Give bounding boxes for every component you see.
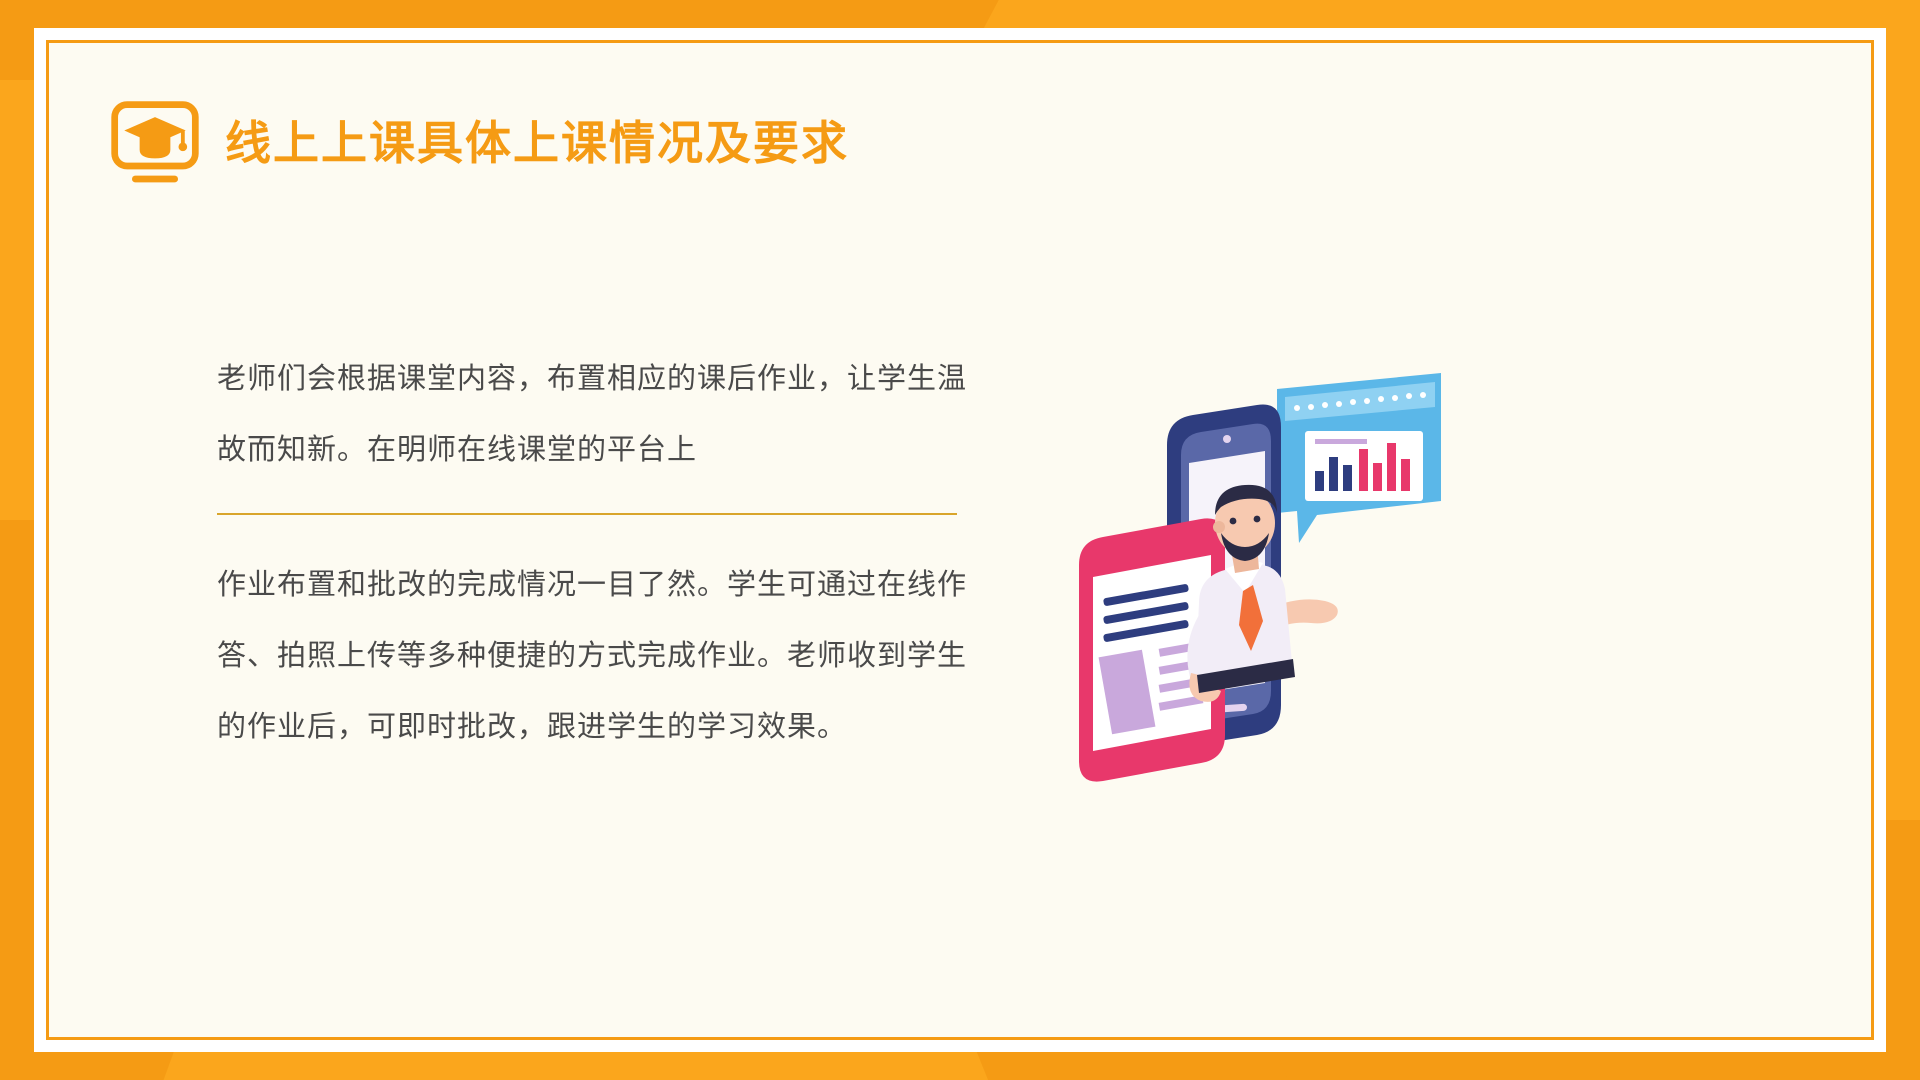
paragraph-1-line-1: 老师们会根据课堂内容，布置相应的课后作业，让学生温 (217, 343, 977, 414)
section-divider (217, 513, 957, 515)
slide-frame-outer: 线上上课具体上课情况及要求 老师们会根据课堂内容，布置相应的课后作业，让学生温 … (34, 28, 1886, 1052)
online-classroom-phone-illustration (1049, 353, 1469, 813)
paragraph-2: 作业布置和批改的完成情况一目了然。学生可通过在线作 答、拍照上传等多种便捷的方式… (217, 549, 977, 762)
paragraph-2-line-2: 答、拍照上传等多种便捷的方式完成作业。老师收到学生 (217, 620, 977, 691)
slide-canvas: 线上上课具体上课情况及要求 老师们会根据课堂内容，布置相应的课后作业，让学生温 … (49, 43, 1871, 1037)
slide-frame-inner: 线上上课具体上课情况及要求 老师们会根据课堂内容，布置相应的课后作业，让学生温 … (46, 40, 1874, 1040)
paragraph-2-line-1: 作业布置和批改的完成情况一目了然。学生可通过在线作 (217, 549, 977, 620)
slide-root: 线上上课具体上课情况及要求 老师们会根据课堂内容，布置相应的课后作业，让学生温 … (0, 0, 1920, 1080)
content-column: 老师们会根据课堂内容，布置相应的课后作业，让学生温 故而知新。在明师在线课堂的平… (217, 343, 977, 762)
page-title: 线上上课具体上课情况及要求 (225, 120, 849, 166)
paragraph-2-line-3: 的作业后，可即时批改，跟进学生的学习效果。 (217, 691, 977, 762)
header: 线上上课具体上课情况及要求 (107, 95, 849, 191)
speech-bubble-shape (1277, 373, 1441, 543)
paragraph-1: 老师们会根据课堂内容，布置相应的课后作业，让学生温 故而知新。在明师在线课堂的平… (217, 343, 977, 485)
paragraph-1-line-2: 故而知新。在明师在线课堂的平台上 (217, 414, 977, 485)
graduation-cap-monitor-icon (107, 95, 203, 191)
